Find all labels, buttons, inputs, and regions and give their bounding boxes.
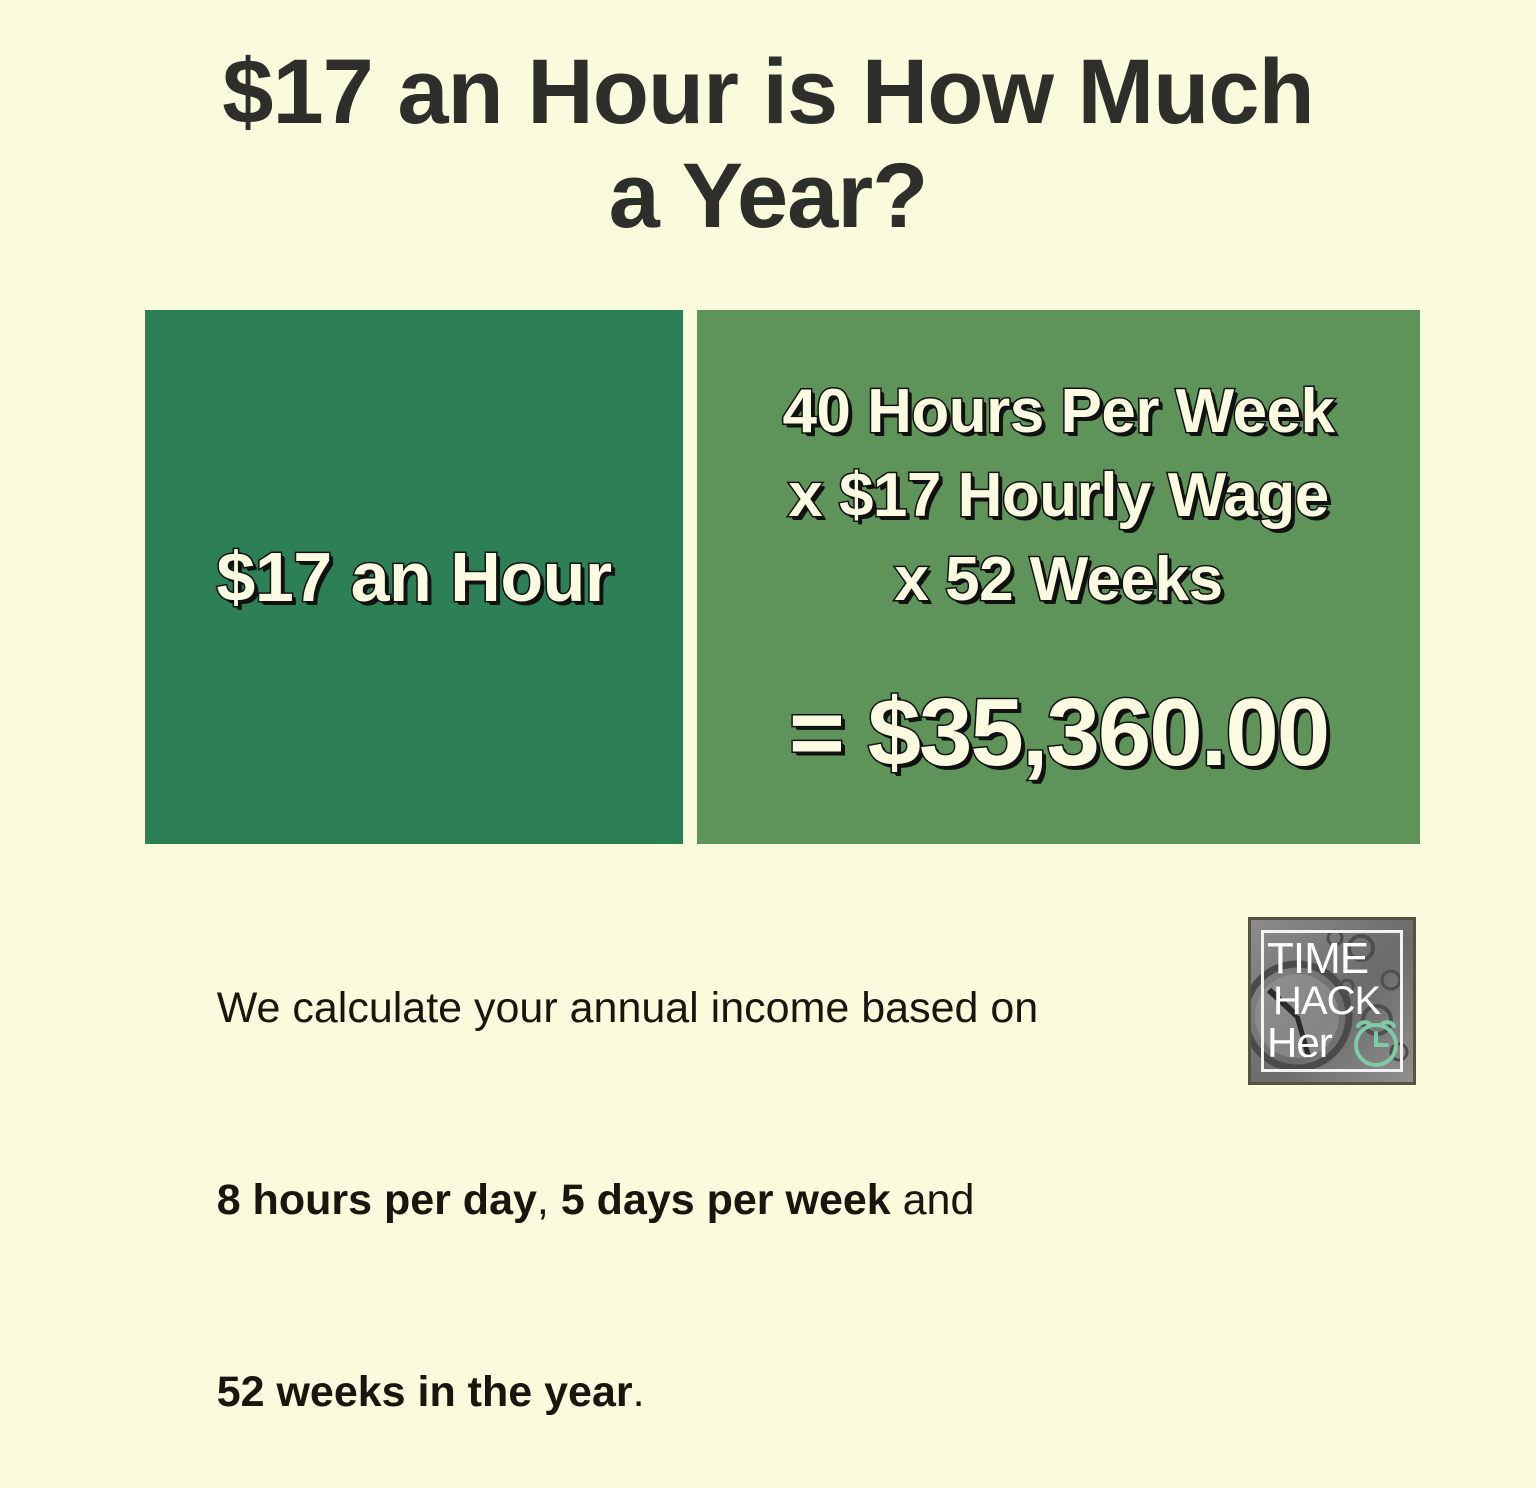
alarm-clock-icon: [1347, 1012, 1405, 1070]
footnote-line-1: We calculate your annual income based on: [145, 912, 1175, 1104]
formula-text: 40 Hours Per Week x $17 Hourly Wage x 52…: [782, 370, 1334, 622]
hourly-rate-label: $17 an Hour: [216, 537, 611, 617]
footnote: We calculate your annual income based on…: [145, 912, 1175, 1488]
footnote-period: .: [633, 1368, 645, 1416]
page-title: $17 an Hour is How Much a Year?: [0, 40, 1536, 248]
footnote-text-intro: We calculate your annual income based on: [217, 984, 1039, 1032]
calculation-panels: $17 an Hour 40 Hours Per Week x $17 Hour…: [145, 310, 1420, 844]
annual-total-text: = $35,360.00: [789, 678, 1328, 788]
footnote-hours-per-day: 8 hours per day: [217, 1176, 537, 1224]
footnote-days-per-week: 5 days per week: [561, 1176, 891, 1224]
logo-text-time: TIME: [1267, 938, 1368, 980]
footnote-line-2: 8 hours per day, 5 days per week and: [145, 1104, 1175, 1296]
footnote-separator: ,: [537, 1176, 561, 1224]
formula-panel: 40 Hours Per Week x $17 Hourly Wage x 52…: [697, 310, 1420, 844]
hourly-rate-panel: $17 an Hour: [145, 310, 683, 844]
footnote-and: and: [891, 1176, 975, 1224]
brand-logo: TIME HACK Her: [1248, 917, 1416, 1085]
footnote-weeks-in-year: 52 weeks in the year: [217, 1368, 633, 1416]
footnote-line-3: 52 weeks in the year.: [145, 1296, 1175, 1488]
logo-text-hero: Her: [1267, 1022, 1332, 1064]
infographic-poster: $17 an Hour is How Much a Year? $17 an H…: [0, 0, 1536, 1152]
